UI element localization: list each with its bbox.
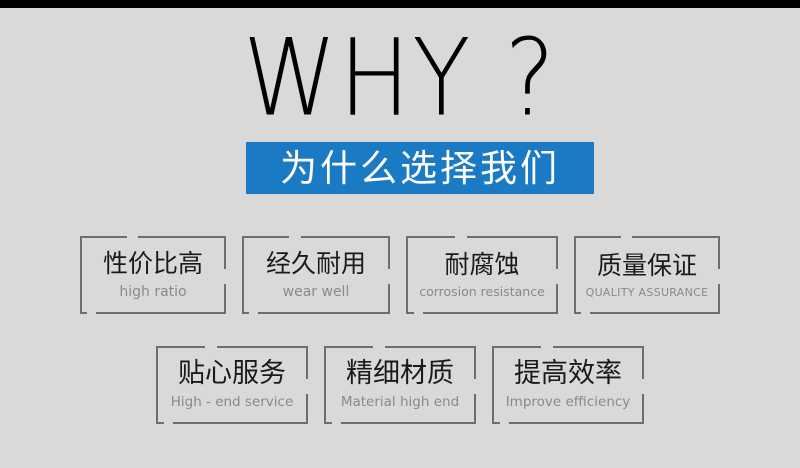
frame-edge-left: [574, 236, 576, 314]
frame-edge-left: [492, 346, 494, 424]
frame-edge-right-b: [224, 284, 226, 314]
frame-edge-top-a: [492, 346, 541, 348]
top-black-bar: [0, 0, 800, 8]
frame-edge-bottom-a: [324, 422, 332, 424]
feature-card-quality-assurance: 质量保证 QUALITY ASSURANCE: [574, 236, 720, 314]
frame-edge-bottom-b: [258, 312, 390, 314]
feature-title-en: QUALITY ASSURANCE: [586, 287, 709, 298]
frame-edge-right-a: [642, 346, 644, 379]
frame-edge-top-b: [467, 236, 558, 238]
feature-title-cn: 性价比高: [103, 251, 203, 276]
feature-row-1: 性价比高 high ratio 经久耐用 wear well 耐腐蚀 corro…: [0, 236, 800, 314]
frame-edge-left: [406, 236, 408, 314]
feature-card-high-end-service: 贴心服务 High - end service: [156, 346, 308, 424]
feature-title-en: Improve efficiency: [506, 396, 631, 410]
frame-edge-right-a: [718, 236, 720, 269]
feature-card-improve-efficiency: 提高效率 Improve efficiency: [492, 346, 644, 424]
frame-edge-right-b: [556, 284, 558, 314]
frame-edge-top-b: [553, 346, 644, 348]
frame-edge-right-a: [306, 346, 308, 379]
frame-edge-bottom-b: [173, 422, 308, 424]
frame-edge-right-b: [642, 394, 644, 424]
frame-edge-top-b: [385, 346, 476, 348]
frame-edge-bottom-b: [96, 312, 226, 314]
frame-edge-top-a: [80, 236, 127, 238]
frame-edge-bottom-b: [341, 422, 476, 424]
frame-edge-top-b: [632, 236, 720, 238]
frame-edge-top-a: [156, 346, 205, 348]
frame-edge-top-b: [217, 346, 308, 348]
feature-card-material-high-end: 精细材质 Material high end: [324, 346, 476, 424]
feature-title-cn: 提高效率: [514, 360, 622, 387]
frame-edge-bottom-a: [406, 312, 414, 314]
frame-edge-top-b: [301, 236, 390, 238]
feature-title-cn: 经久耐用: [266, 251, 366, 276]
title-block: WHY ?: [0, 26, 800, 121]
frame-edge-right-a: [388, 236, 390, 269]
feature-title-en: High - end service: [171, 396, 294, 410]
feature-title-cn: 精细材质: [346, 360, 454, 387]
frame-edge-left: [324, 346, 326, 424]
frame-edge-right-b: [306, 394, 308, 424]
subtitle-banner: 为什么选择我们: [246, 142, 594, 194]
frame-edge-bottom-a: [242, 312, 249, 314]
feature-card-wear-well: 经久耐用 wear well: [242, 236, 390, 314]
frame-edge-bottom-b: [509, 422, 644, 424]
frame-edge-bottom-a: [492, 422, 500, 424]
frame-edge-top-b: [138, 236, 226, 238]
frame-edge-left: [242, 236, 244, 314]
frame-edge-bottom-a: [574, 312, 581, 314]
frame-edge-top-a: [406, 236, 455, 238]
feature-title-cn: 质量保证: [597, 253, 697, 278]
feature-row-2: 贴心服务 High - end service 精细材质 Material hi…: [0, 346, 800, 424]
frame-edge-top-a: [574, 236, 621, 238]
subtitle-banner-label: 为什么选择我们: [280, 150, 560, 187]
frame-edge-bottom-a: [156, 422, 164, 424]
frame-edge-bottom-b: [423, 312, 558, 314]
frame-edge-right-a: [556, 236, 558, 269]
frame-edge-right-b: [718, 284, 720, 314]
feature-title-en: high ratio: [119, 285, 186, 299]
frame-edge-top-a: [324, 346, 373, 348]
feature-title-en: corrosion resistance: [419, 286, 545, 299]
poster-stage: WHY ? 为什么选择我们 性价比高 high ratio 经久耐用 wear …: [0, 8, 800, 468]
frame-edge-left: [80, 236, 82, 314]
feature-title-en: wear well: [283, 285, 350, 299]
frame-edge-right-a: [474, 346, 476, 379]
feature-title-en: Material high end: [341, 396, 459, 410]
frame-edge-right-a: [224, 236, 226, 269]
frame-edge-right-b: [474, 394, 476, 424]
frame-edge-right-b: [388, 284, 390, 314]
feature-title-cn: 贴心服务: [178, 360, 286, 387]
frame-edge-bottom-b: [590, 312, 720, 314]
feature-title-cn: 耐腐蚀: [444, 252, 519, 277]
feature-card-corrosion-resistance: 耐腐蚀 corrosion resistance: [406, 236, 558, 314]
page-title: WHY ?: [243, 26, 557, 132]
frame-edge-bottom-a: [80, 312, 87, 314]
frame-edge-top-a: [242, 236, 289, 238]
frame-edge-left: [156, 346, 158, 424]
feature-card-high-ratio: 性价比高 high ratio: [80, 236, 226, 314]
